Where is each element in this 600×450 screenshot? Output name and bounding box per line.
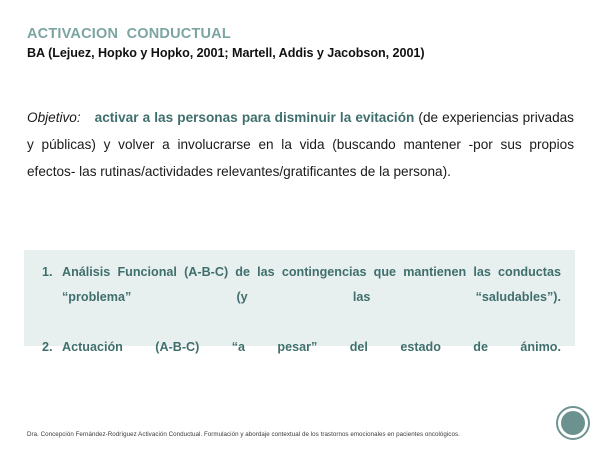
key-points-list: 1. Análisis Funcional (A-B-C) de las con… xyxy=(34,260,563,385)
list-item-label: Actuación (A-B-C) “a pesar” del estado d… xyxy=(62,335,563,385)
list-item-number: 2. xyxy=(34,335,62,360)
list-item: 1. Análisis Funcional (A-B-C) de las con… xyxy=(34,260,563,335)
objective-label: Objetivo xyxy=(27,110,77,125)
objective-label-colon: : xyxy=(77,110,81,125)
objective-paragraph: Objetivo:activar a las personas para dis… xyxy=(27,104,574,185)
list-item: 2. Actuación (A-B-C) “a pesar” del estad… xyxy=(34,335,563,385)
key-points-box: 1. Análisis Funcional (A-B-C) de las con… xyxy=(24,250,575,346)
logo-inner-disc xyxy=(561,411,585,435)
circular-logo-mark-icon xyxy=(556,406,590,440)
page-title: ACTIVACION CONDUCTUAL xyxy=(27,26,572,43)
list-item-label: Análisis Funcional (A-B-C) de las contin… xyxy=(62,260,563,335)
slide-canvas: ACTIVACION CONDUCTUAL BA (Lejuez, Hopko … xyxy=(0,0,600,450)
slide-footer: Dra. Concepción Fernández-Rodríguez Acti… xyxy=(27,431,547,439)
page-subtitle: BA (Lejuez, Hopko y Hopko, 2001; Martell… xyxy=(27,46,572,62)
objective-highlight: activar a las personas para disminuir la… xyxy=(95,110,415,125)
slide-header: ACTIVACION CONDUCTUAL BA (Lejuez, Hopko … xyxy=(27,26,572,62)
list-item-number: 1. xyxy=(34,260,62,285)
